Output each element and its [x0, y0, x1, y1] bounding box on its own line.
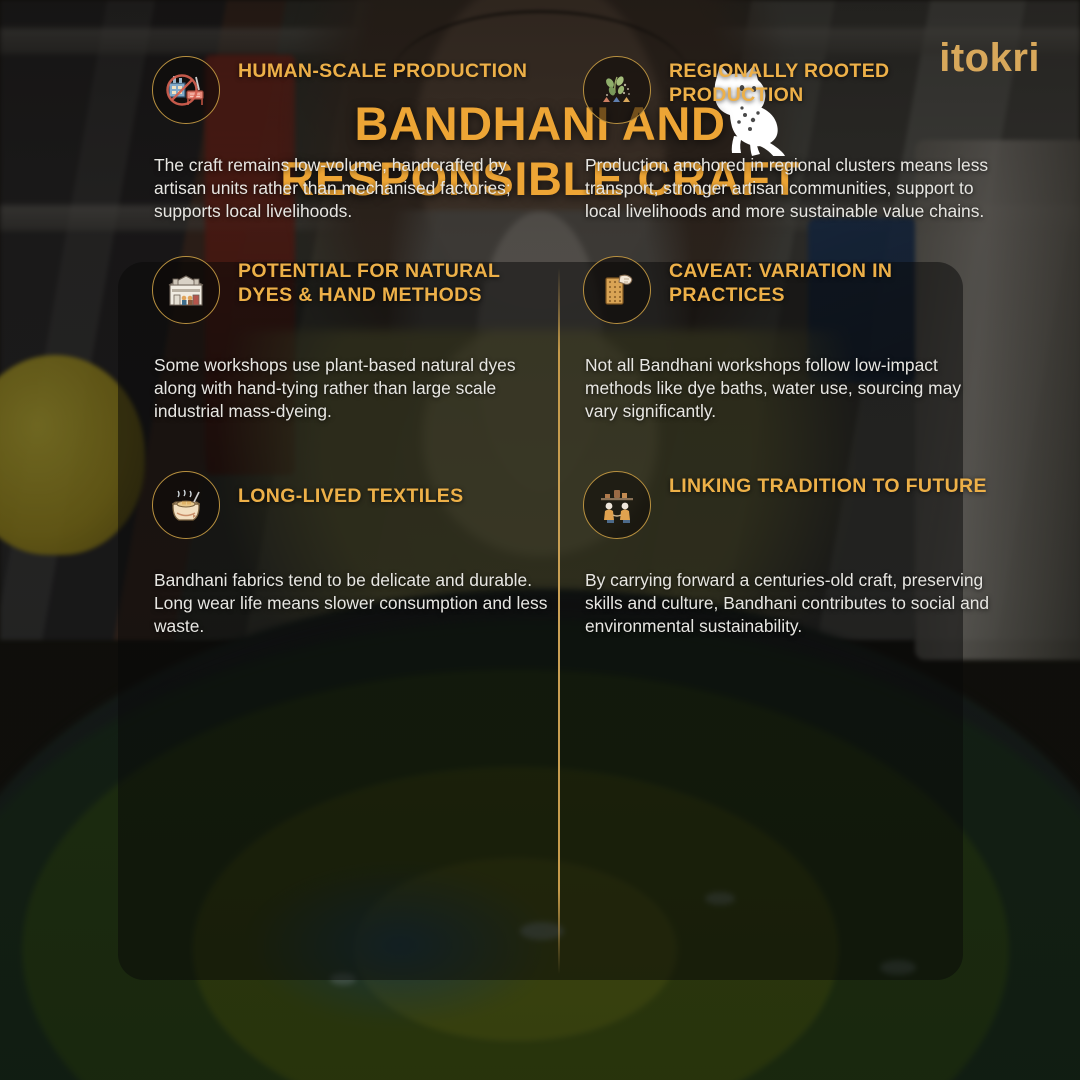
- hand-holding-fabric-icon: [583, 256, 651, 324]
- feature-heading: LONG-LIVED TEXTILES: [238, 485, 550, 509]
- feature-heading: REGIONALLY ROOTED PRODUCTION: [669, 60, 999, 108]
- column-divider: [558, 268, 560, 974]
- feature-body: Bandhani fabrics tend to be delicate and…: [154, 569, 552, 638]
- feature-heading: POTENTIAL FOR NATURAL DYES & HAND METHOD…: [238, 260, 550, 308]
- feature-body: Production anchored in regional clusters…: [585, 154, 993, 223]
- feature-body: Not all Bandhani workshops follow low-im…: [585, 354, 993, 423]
- feature-body: By carrying forward a centuries-old craf…: [585, 569, 993, 638]
- feature-heading: HUMAN-SCALE PRODUCTION: [238, 60, 550, 84]
- dye-pot-icon: [152, 471, 220, 539]
- feature-heading: CAVEAT: VARIATION IN PRACTICES: [669, 260, 999, 308]
- infographic-poster: itokri BANDHANI AND RESPONSIBLE CRAFT: [0, 0, 1080, 1080]
- feature-heading: LINKING TRADITION TO FUTURE: [669, 475, 999, 499]
- no-factory-icon: [152, 56, 220, 124]
- seedling-icon: [583, 56, 651, 124]
- two-artisans-icon: [583, 471, 651, 539]
- feature-body: The craft remains low-volume, handcrafte…: [154, 154, 552, 223]
- feature-body: Some workshops use plant-based natural d…: [154, 354, 552, 423]
- workshop-building-icon: [152, 256, 220, 324]
